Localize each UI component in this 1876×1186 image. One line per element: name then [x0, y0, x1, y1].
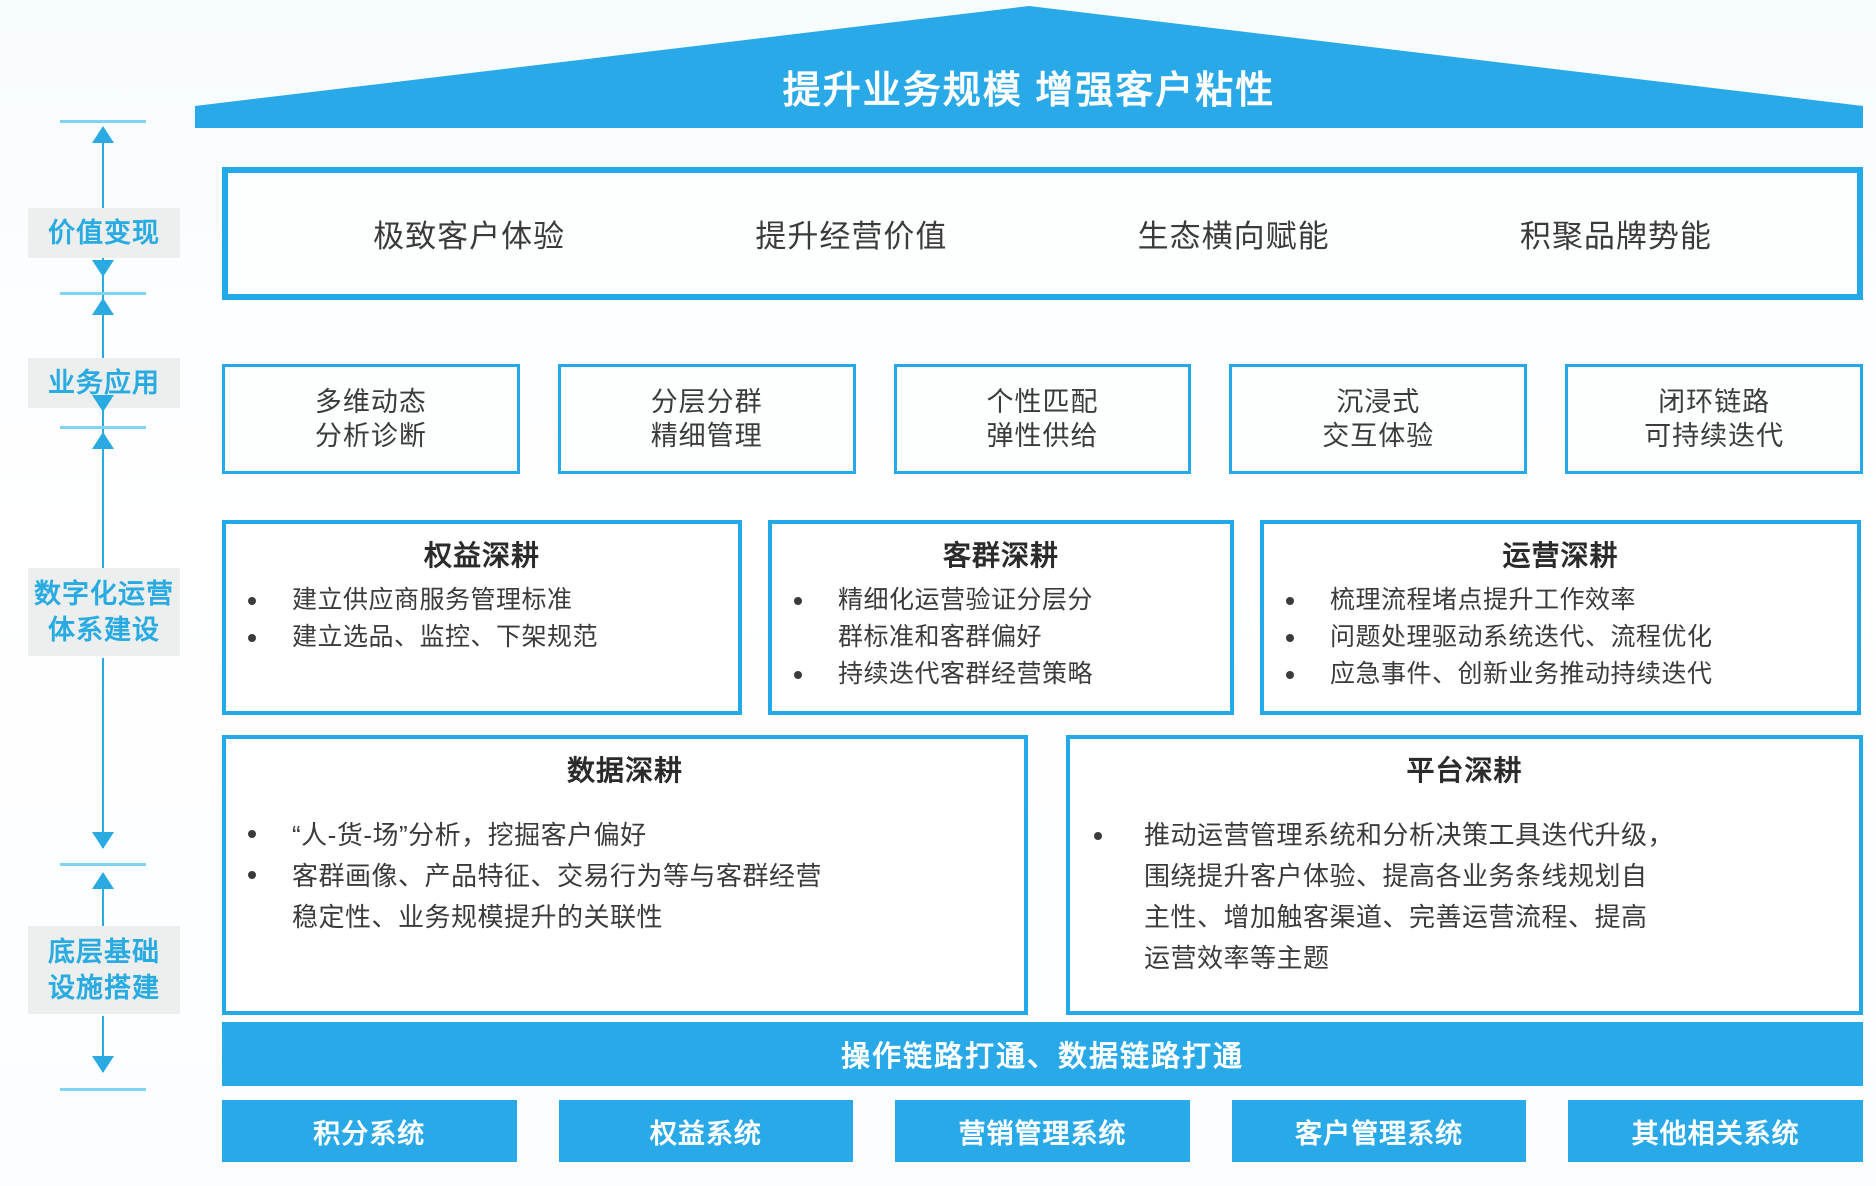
app-box-1-line2: 精细管理 — [651, 419, 763, 453]
list-item: 问题处理驱动系统迭代、流程优化 — [1272, 619, 1849, 656]
list-item: “人-货-场”分析，挖掘客户偏好 — [234, 815, 1016, 856]
deep-box-data[interactable]: 数据深耕 “人-货-场”分析，挖掘客户偏好 客群画像、产品特征、交易行为等与客群… — [222, 735, 1028, 1015]
list-item: 持续迭代客群经营策略 — [780, 656, 1222, 693]
diagram-canvas: 价值变现 业务应用 数字化运营 体系建设 底层基础 设施搭建 — [0, 0, 1876, 1186]
deep-box-operations-title: 运营深耕 — [1272, 534, 1849, 574]
deep-box-rights[interactable]: 权益深耕 建立供应商服务管理标准 建立选品、监控、下架规范 — [222, 520, 742, 715]
deep-box-customer-group-list: 精细化运营验证分层分 群标准和客群偏好 持续迭代客群经营策略 — [780, 582, 1222, 693]
app-box-0[interactable]: 多维动态 分析诊断 — [222, 364, 520, 474]
app-box-3[interactable]: 沉浸式 交互体验 — [1229, 364, 1527, 474]
apps-layer: 多维动态 分析诊断 分层分群 精细管理 个性匹配 弹性供给 沉浸式 交互体验 闭… — [222, 364, 1863, 474]
deep-box-rights-title: 权益深耕 — [234, 534, 730, 574]
app-box-2[interactable]: 个性匹配 弹性供给 — [894, 364, 1192, 474]
value-item-2: 生态横向赋能 — [1138, 211, 1330, 256]
rail-arrow-up-2 — [92, 298, 114, 315]
rail-label-infrastructure: 底层基础 设施搭建 — [28, 926, 180, 1014]
rail-arrow-up-4 — [92, 872, 114, 889]
deep-box-platform-list: 推动运营管理系统和分析决策工具迭代升级， 围绕提升客户体验、提高各业务条线规划自… — [1078, 815, 1851, 979]
left-rail: 价值变现 业务应用 数字化运营 体系建设 底层基础 设施搭建 — [18, 120, 188, 1165]
rail-arrow-up-3 — [92, 432, 114, 449]
rail-label-apps-text: 业务应用 — [48, 368, 160, 398]
system-box-customer[interactable]: 客户管理系统 — [1232, 1100, 1527, 1162]
deep-box-platform-title: 平台深耕 — [1078, 749, 1851, 789]
integration-band: 操作链路打通、数据链路打通 — [222, 1022, 1863, 1086]
deep-box-rights-list: 建立供应商服务管理标准 建立选品、监控、下架规范 — [234, 582, 730, 656]
app-box-1-line1: 分层分群 — [651, 385, 763, 419]
rail-arrow-down-2 — [92, 395, 114, 412]
system-box-rights[interactable]: 权益系统 — [559, 1100, 854, 1162]
system-box-points[interactable]: 积分系统 — [222, 1100, 517, 1162]
app-box-4[interactable]: 闭环链路 可持续迭代 — [1565, 364, 1863, 474]
deep-cultivation-row-1: 权益深耕 建立供应商服务管理标准 建立选品、监控、下架规范 客群深耕 精细化运营… — [222, 520, 1863, 715]
list-item-continuation: 群标准和客群偏好 — [780, 619, 1222, 656]
list-item: 梳理流程堵点提升工作效率 — [1272, 582, 1849, 619]
deep-box-customer-group-title: 客群深耕 — [780, 534, 1222, 574]
value-item-0: 极致客户体验 — [373, 211, 565, 256]
system-box-marketing[interactable]: 营销管理系统 — [895, 1100, 1190, 1162]
list-item: 建立选品、监控、下架规范 — [234, 619, 730, 656]
value-layer: 极致客户体验 提升经营价值 生态横向赋能 积聚品牌势能 — [222, 167, 1863, 300]
rail-label-infrastructure-line2: 设施搭建 — [48, 973, 160, 1003]
rail-label-value: 价值变现 — [28, 208, 180, 258]
app-box-4-line2: 可持续迭代 — [1644, 419, 1784, 453]
rail-line-2a — [102, 314, 104, 362]
rail-line-4a — [102, 888, 104, 928]
rail-cap-3 — [60, 426, 146, 429]
rail-cap-top — [60, 120, 146, 123]
app-box-0-line1: 多维动态 — [315, 385, 427, 419]
rail-cap-4 — [60, 863, 146, 866]
rail-arrow-down-3 — [92, 832, 114, 849]
app-box-0-line2: 分析诊断 — [315, 419, 427, 453]
rail-line-3a — [102, 448, 104, 568]
deep-box-operations[interactable]: 运营深耕 梳理流程堵点提升工作效率 问题处理驱动系统迭代、流程优化 应急事件、创… — [1260, 520, 1861, 715]
rail-cap-2 — [60, 292, 146, 295]
list-item: 推动运营管理系统和分析决策工具迭代升级， — [1078, 815, 1851, 856]
rail-arrow-up-1 — [92, 126, 114, 143]
list-item: 应急事件、创新业务推动持续迭代 — [1272, 656, 1849, 693]
app-box-2-line1: 个性匹配 — [986, 385, 1098, 419]
app-box-3-line2: 交互体验 — [1322, 419, 1434, 453]
rail-label-infrastructure-line1: 底层基础 — [48, 937, 160, 967]
systems-row: 积分系统 权益系统 营销管理系统 客户管理系统 其他相关系统 — [222, 1100, 1863, 1162]
rail-cap-bottom — [60, 1088, 146, 1091]
app-box-3-line1: 沉浸式 — [1336, 385, 1420, 419]
list-item-continuation: 主性、增加触客渠道、完善运营流程、提高 — [1078, 897, 1851, 938]
app-box-1[interactable]: 分层分群 精细管理 — [558, 364, 856, 474]
deep-box-data-list: “人-货-场”分析，挖掘客户偏好 客群画像、产品特征、交易行为等与客群经营 稳定… — [234, 815, 1016, 938]
deep-cultivation-row-2: 数据深耕 “人-货-场”分析，挖掘客户偏好 客群画像、产品特征、交易行为等与客群… — [222, 735, 1863, 1015]
roof-banner: 提升业务规模 增强客户粘性 — [195, 6, 1863, 128]
system-box-other[interactable]: 其他相关系统 — [1568, 1100, 1863, 1162]
value-item-1: 提升经营价值 — [755, 211, 947, 256]
app-box-2-line2: 弹性供给 — [986, 419, 1098, 453]
list-item-continuation: 运营效率等主题 — [1078, 938, 1851, 979]
rail-label-digital-ops: 数字化运营 体系建设 — [28, 568, 180, 656]
roof-title: 提升业务规模 增强客户粘性 — [195, 6, 1863, 128]
deep-box-data-title: 数据深耕 — [234, 749, 1016, 789]
app-box-4-line1: 闭环链路 — [1658, 385, 1770, 419]
list-item: 客群画像、产品特征、交易行为等与客群经营 — [234, 856, 1016, 897]
value-item-3: 积聚品牌势能 — [1520, 211, 1712, 256]
rail-line-1a — [102, 142, 104, 208]
rail-arrow-down-4 — [92, 1056, 114, 1073]
deep-box-platform[interactable]: 平台深耕 推动运营管理系统和分析决策工具迭代升级， 围绕提升客户体验、提高各业务… — [1066, 735, 1863, 1015]
list-item: 精细化运营验证分层分 — [780, 582, 1222, 619]
rail-line-3b — [102, 658, 104, 848]
rail-label-value-text: 价值变现 — [48, 218, 160, 248]
rail-label-digital-ops-line2: 体系建设 — [48, 615, 160, 645]
deep-box-operations-list: 梳理流程堵点提升工作效率 问题处理驱动系统迭代、流程优化 应急事件、创新业务推动… — [1272, 582, 1849, 693]
deep-box-customer-group[interactable]: 客群深耕 精细化运营验证分层分 群标准和客群偏好 持续迭代客群经营策略 — [768, 520, 1234, 715]
list-item: 建立供应商服务管理标准 — [234, 582, 730, 619]
list-item-continuation: 稳定性、业务规模提升的关联性 — [234, 897, 1016, 938]
rail-label-digital-ops-line1: 数字化运营 — [34, 579, 174, 609]
list-item-continuation: 围绕提升客户体验、提高各业务条线规划自 — [1078, 856, 1851, 897]
rail-arrow-down-1 — [92, 260, 114, 277]
